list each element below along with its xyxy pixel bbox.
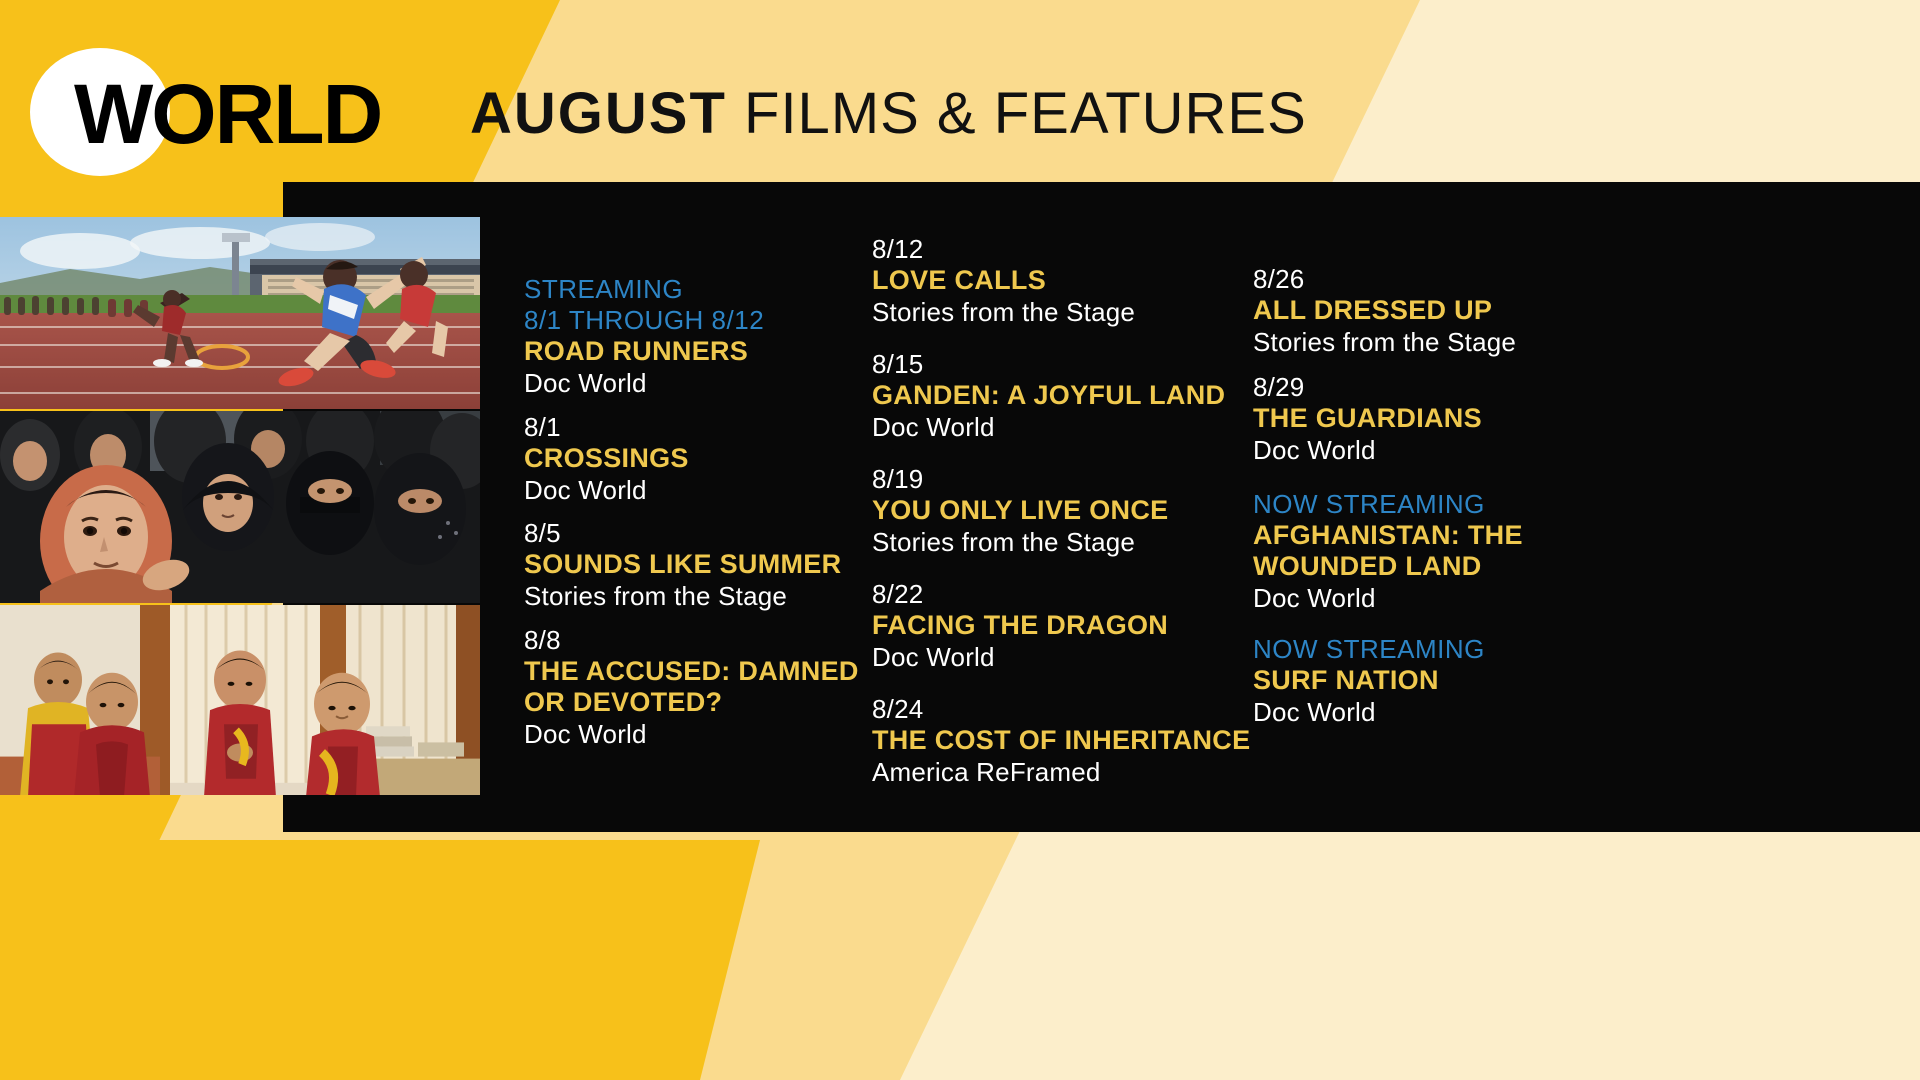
list-item[interactable]: 8/5 SOUNDS LIKE SUMMER Stories from the …: [524, 518, 874, 613]
film-title: ROAD RUNNERS: [524, 336, 874, 367]
film-series: Stories from the Stage: [1253, 326, 1633, 359]
air-date: 8/5: [524, 518, 874, 549]
air-date: 8/12: [872, 234, 1252, 265]
list-item[interactable]: 8/24 THE COST OF INHERITANCE America ReF…: [872, 694, 1252, 789]
list-item[interactable]: 8/22 FACING THE DRAGON Doc World: [872, 579, 1252, 674]
film-title: ALL DRESSED UP: [1253, 295, 1633, 326]
film-series: Doc World: [1253, 696, 1633, 729]
list-item[interactable]: 8/19 YOU ONLY LIVE ONCE Stories from the…: [872, 464, 1252, 559]
streaming-label: NOW STREAMING: [1253, 634, 1633, 665]
film-title-line2: OR DEVOTED?: [524, 687, 874, 718]
air-date: 8/22: [872, 579, 1252, 610]
streaming-label-line2: 8/1 THROUGH 8/12: [524, 305, 874, 336]
film-listing: STREAMING 8/1 THROUGH 8/12 ROAD RUNNERS …: [283, 182, 1920, 832]
list-item[interactable]: 8/26 ALL DRESSED UP Stories from the Sta…: [1253, 264, 1633, 359]
air-date: 8/26: [1253, 264, 1633, 295]
list-item[interactable]: 8/29 THE GUARDIANS Doc World: [1253, 372, 1633, 467]
air-date: 8/29: [1253, 372, 1633, 403]
page-title-month: AUGUST: [470, 81, 727, 146]
air-date: 8/15: [872, 349, 1252, 380]
logo-wordmark: WORLD: [74, 72, 381, 156]
air-date: 8/24: [872, 694, 1252, 725]
list-item[interactable]: 8/1 CROSSINGS Doc World: [524, 412, 874, 507]
film-series: America ReFramed: [872, 756, 1252, 789]
list-item[interactable]: NOW STREAMING SURF NATION Doc World: [1253, 634, 1633, 729]
film-series: Doc World: [1253, 582, 1633, 615]
air-date: 8/1: [524, 412, 874, 443]
film-series: Doc World: [524, 718, 874, 751]
film-title-line1: AFGHANISTAN: THE: [1253, 520, 1633, 551]
list-item[interactable]: STREAMING 8/1 THROUGH 8/12 ROAD RUNNERS …: [524, 274, 874, 400]
film-title: THE GUARDIANS: [1253, 403, 1633, 434]
film-series: Doc World: [872, 411, 1252, 444]
film-title: CROSSINGS: [524, 443, 874, 474]
film-title: FACING THE DRAGON: [872, 610, 1252, 641]
film-series: Doc World: [524, 367, 874, 400]
list-item[interactable]: 8/15 GANDEN: A JOYFUL LAND Doc World: [872, 349, 1252, 444]
film-title: THE COST OF INHERITANCE: [872, 725, 1252, 756]
film-series: Doc World: [872, 641, 1252, 674]
list-item[interactable]: 8/8 THE ACCUSED: DAMNED OR DEVOTED? Doc …: [524, 625, 874, 751]
film-title: YOU ONLY LIVE ONCE: [872, 495, 1252, 526]
list-item[interactable]: 8/12 LOVE CALLS Stories from the Stage: [872, 234, 1252, 329]
film-series: Stories from the Stage: [872, 526, 1252, 559]
film-series: Doc World: [524, 474, 874, 507]
film-series: Doc World: [1253, 434, 1633, 467]
page-title-rest: FILMS & FEATURES: [744, 81, 1307, 146]
film-series: Stories from the Stage: [872, 296, 1252, 329]
film-title-line2: WOUNDED LAND: [1253, 551, 1633, 582]
film-title: GANDEN: A JOYFUL LAND: [872, 380, 1252, 411]
streaming-label: NOW STREAMING: [1253, 489, 1633, 520]
film-title-line1: THE ACCUSED: DAMNED: [524, 656, 874, 687]
film-series: Stories from the Stage: [524, 580, 874, 613]
world-logo: WORLD: [30, 48, 410, 178]
page-title: AUGUST FILMS & FEATURES: [470, 80, 1307, 147]
air-date: 8/8: [524, 625, 874, 656]
film-title: LOVE CALLS: [872, 265, 1252, 296]
air-date: 8/19: [872, 464, 1252, 495]
film-title: SURF NATION: [1253, 665, 1633, 696]
film-title: SOUNDS LIKE SUMMER: [524, 549, 874, 580]
list-item[interactable]: NOW STREAMING AFGHANISTAN: THE WOUNDED L…: [1253, 489, 1633, 615]
streaming-label-line1: STREAMING: [524, 274, 874, 305]
